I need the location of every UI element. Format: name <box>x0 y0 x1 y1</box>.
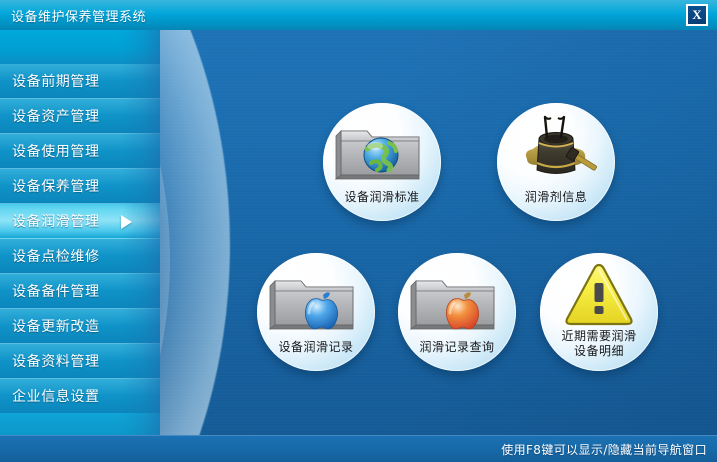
sidebar-item-3[interactable]: 设备保养管理 <box>0 169 160 204</box>
sidebar-item-8[interactable]: 设备资料管理 <box>0 344 160 379</box>
folder-blue-apple-icon <box>257 263 375 331</box>
sidebar-item-label: 设备更新改造 <box>12 316 100 336</box>
application-window: 设备维护保养管理系统 X 设备前期管理设备资产管理设备使用管理设备保养管理设备润… <box>0 0 717 462</box>
sidebar-item-4[interactable]: 设备润滑管理 <box>0 204 160 239</box>
sidebar-footer-strip <box>0 413 160 435</box>
sidebar-item-label: 企业信息设置 <box>12 386 100 406</box>
sidebar-item-1[interactable]: 设备资产管理 <box>0 99 160 134</box>
status-bar: 使用F8键可以显示/隐藏当前导航窗口 <box>0 435 717 462</box>
sidebar-item-2[interactable]: 设备使用管理 <box>0 134 160 169</box>
folder-globe-icon <box>323 113 441 181</box>
sidebar-navigation: 设备前期管理设备资产管理设备使用管理设备保养管理设备润滑管理设备点检维修设备备件… <box>0 30 160 462</box>
main-button-label: 设备润滑标准 <box>323 190 441 205</box>
sidebar-item-7[interactable]: 设备更新改造 <box>0 309 160 344</box>
title-bar: 设备维护保养管理系统 X <box>0 0 717 30</box>
sidebar-item-label: 设备使用管理 <box>12 141 100 161</box>
sidebar-item-label: 设备保养管理 <box>12 176 100 196</box>
grease-bucket-brush-icon <box>497 113 615 181</box>
sidebar-item-label: 设备点检维修 <box>12 246 100 266</box>
main-button-label: 近期需要润滑 设备明细 <box>540 329 658 359</box>
main-button-2[interactable]: 设备润滑记录 <box>257 253 375 371</box>
main-button-label: 润滑剂信息 <box>497 190 615 205</box>
sidebar-item-9[interactable]: 企业信息设置 <box>0 379 160 414</box>
sidebar-item-5[interactable]: 设备点检维修 <box>0 239 160 274</box>
sidebar-item-0[interactable]: 设备前期管理 <box>0 64 160 99</box>
sidebar-item-label: 设备润滑管理 <box>12 211 100 231</box>
main-button-0[interactable]: 设备润滑标准 <box>323 103 441 221</box>
sidebar-item-label: 设备资产管理 <box>12 106 100 126</box>
sidebar-item-list: 设备前期管理设备资产管理设备使用管理设备保养管理设备润滑管理设备点检维修设备备件… <box>0 64 160 414</box>
main-button-label: 设备润滑记录 <box>257 340 375 355</box>
sidebar-item-label: 设备备件管理 <box>12 281 100 301</box>
warning-triangle-icon <box>540 259 658 327</box>
main-button-1[interactable]: 润滑剂信息 <box>497 103 615 221</box>
window-title: 设备维护保养管理系统 <box>11 6 146 25</box>
folder-orange-apple-icon <box>398 263 516 331</box>
status-bar-top-line <box>0 435 717 436</box>
main-button-3[interactable]: 润滑记录查询 <box>398 253 516 371</box>
sidebar-item-6[interactable]: 设备备件管理 <box>0 274 160 309</box>
status-hint-text: 使用F8键可以显示/隐藏当前导航窗口 <box>501 441 707 458</box>
triangle-right-icon <box>121 215 132 229</box>
close-button[interactable]: X <box>686 4 708 26</box>
main-button-label: 润滑记录查询 <box>398 340 516 355</box>
sidebar-header-strip <box>0 30 160 64</box>
sidebar-item-label: 设备资料管理 <box>12 351 100 371</box>
sidebar-item-label: 设备前期管理 <box>12 71 100 91</box>
main-button-4[interactable]: 近期需要润滑 设备明细 <box>540 253 658 371</box>
